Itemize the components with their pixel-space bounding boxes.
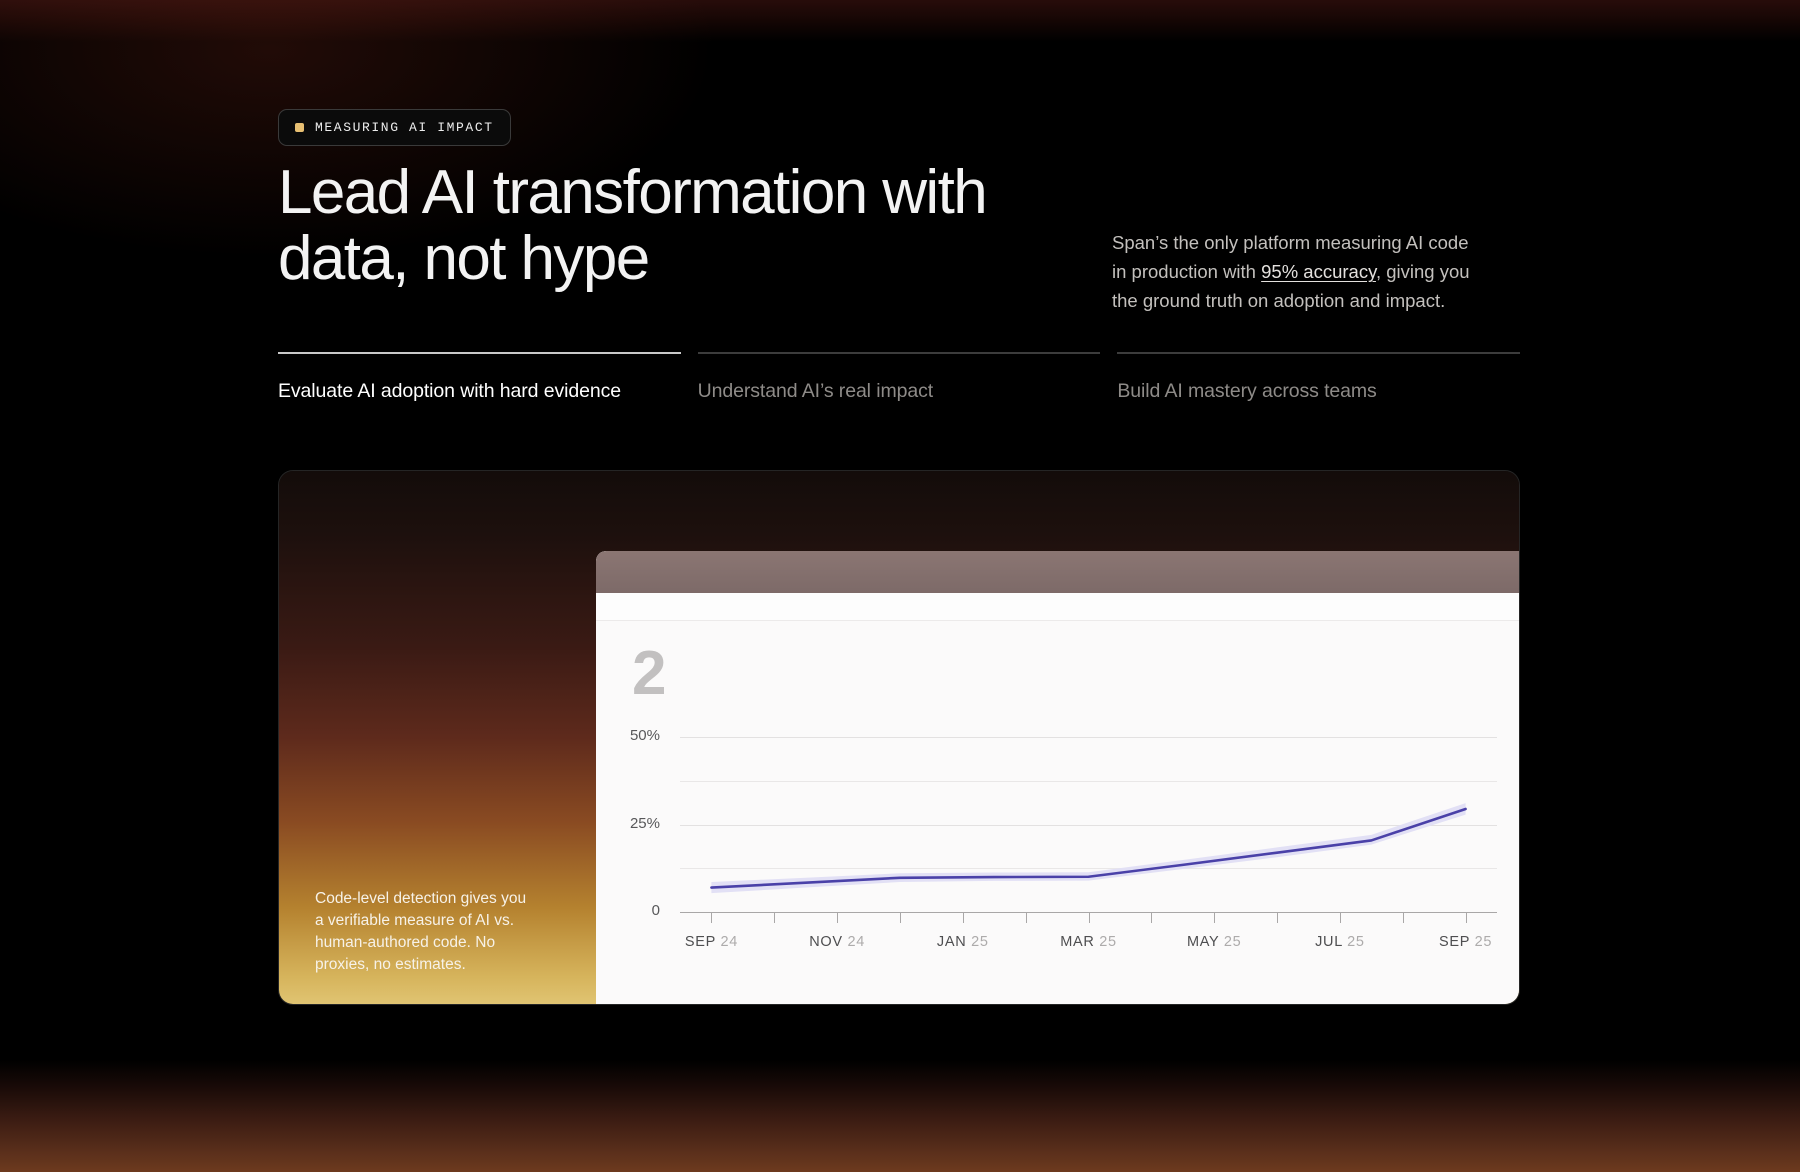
- tab-indicator: [278, 352, 681, 354]
- page-title: Lead AI transformation with data, not hy…: [278, 160, 1018, 291]
- tab-label: Build AI mastery across teams: [1117, 380, 1520, 403]
- section-badge-label: MEASURING AI IMPACT: [315, 120, 494, 135]
- chart-line-ai-share: [711, 809, 1465, 888]
- intro-paragraph: Span’s the only platform measuring AI co…: [1112, 228, 1487, 316]
- tab-label: Evaluate AI adoption with hard evidence: [278, 380, 681, 403]
- feature-tabs: Evaluate AI adoption with hard evidence …: [278, 352, 1520, 403]
- chart-panel: 2 025%50%SEP 24NOV 24JAN 25MAR 25MAY 25J…: [596, 551, 1519, 1004]
- chart-series-layer: [596, 621, 1519, 1004]
- amber-square-icon: [295, 123, 304, 132]
- page-title-line-2: data, not hype: [278, 226, 1018, 292]
- tab-indicator: [1117, 352, 1520, 354]
- panel-titlebar: [596, 551, 1519, 593]
- chart-body: 2 025%50%SEP 24NOV 24JAN 25MAR 25MAY 25J…: [596, 621, 1519, 1004]
- page-title-line-1: Lead AI transformation with: [278, 160, 1018, 226]
- tab-evaluate-ai-adoption[interactable]: Evaluate AI adoption with hard evidence: [278, 352, 681, 403]
- section-badge: MEASURING AI IMPACT: [278, 109, 511, 146]
- adoption-line-chart: 025%50%SEP 24NOV 24JAN 25MAR 25MAY 25JUL…: [596, 621, 1519, 1004]
- showcase-caption: Code-level detection gives you a verifia…: [315, 888, 530, 976]
- tab-build-ai-mastery[interactable]: Build AI mastery across teams: [1117, 352, 1520, 403]
- page-content: MEASURING AI IMPACT Lead AI transformati…: [0, 0, 1800, 1172]
- accuracy-link[interactable]: 95% accuracy: [1261, 261, 1376, 282]
- tab-label: Understand AI’s real impact: [698, 380, 1101, 403]
- tab-understand-real-impact[interactable]: Understand AI’s real impact: [698, 352, 1101, 403]
- chart-confidence-band: [711, 803, 1465, 893]
- tab-indicator: [698, 352, 1101, 354]
- showcase-card: Code-level detection gives you a verifia…: [278, 470, 1520, 1005]
- panel-toolbar: [596, 593, 1519, 621]
- page-root: MEASURING AI IMPACT Lead AI transformati…: [0, 0, 1800, 1172]
